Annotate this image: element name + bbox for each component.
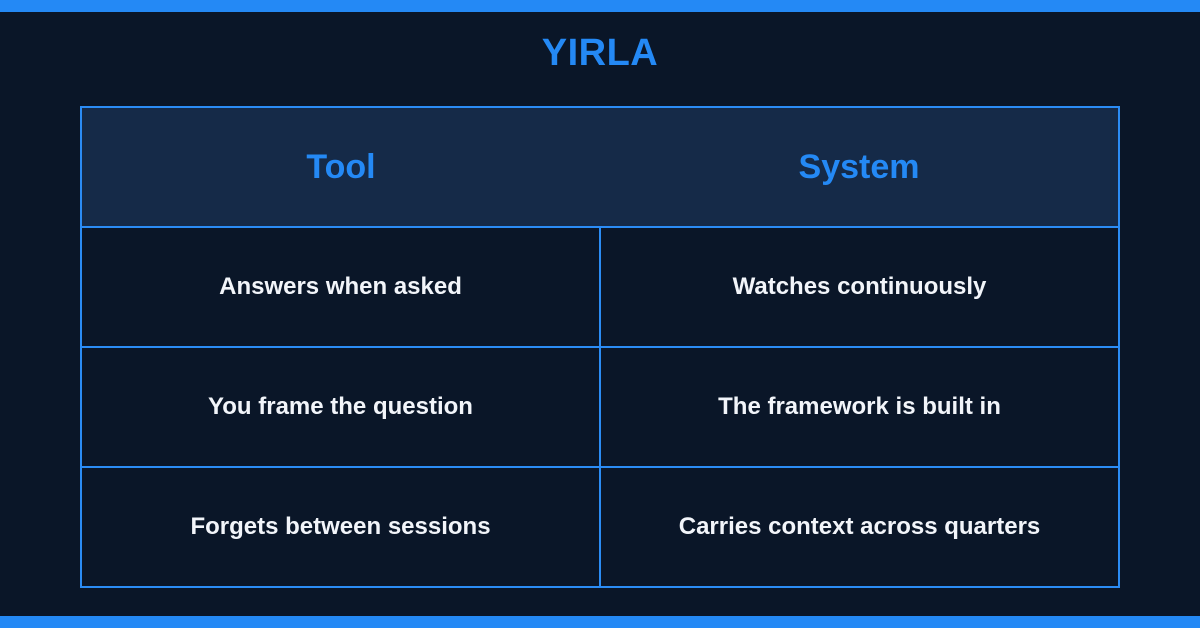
table-row: You frame the question The framework is … bbox=[81, 347, 1119, 467]
cell-tool: Forgets between sessions bbox=[81, 467, 600, 587]
cell-tool: Answers when asked bbox=[81, 227, 600, 347]
table-body: Answers when asked Watches continuously … bbox=[81, 227, 1119, 587]
table-row: Forgets between sessions Carries context… bbox=[81, 467, 1119, 587]
cell-system: Carries context across quarters bbox=[600, 467, 1119, 587]
cell-system: The framework is built in bbox=[600, 347, 1119, 467]
table-header: Tool System bbox=[81, 107, 1119, 227]
slide-content: YIRLA Tool System Answers when asked Wat… bbox=[0, 12, 1200, 616]
table-header-row: Tool System bbox=[81, 107, 1119, 227]
table-row: Answers when asked Watches continuously bbox=[81, 227, 1119, 347]
comparison-table: Tool System Answers when asked Watches c… bbox=[80, 106, 1120, 588]
cell-tool: You frame the question bbox=[81, 347, 600, 467]
page-title: YIRLA bbox=[0, 34, 1200, 72]
column-header-tool: Tool bbox=[81, 107, 600, 227]
top-accent-bar bbox=[0, 0, 1200, 12]
bottom-accent-bar bbox=[0, 616, 1200, 628]
cell-system: Watches continuously bbox=[600, 227, 1119, 347]
column-header-system: System bbox=[600, 107, 1119, 227]
